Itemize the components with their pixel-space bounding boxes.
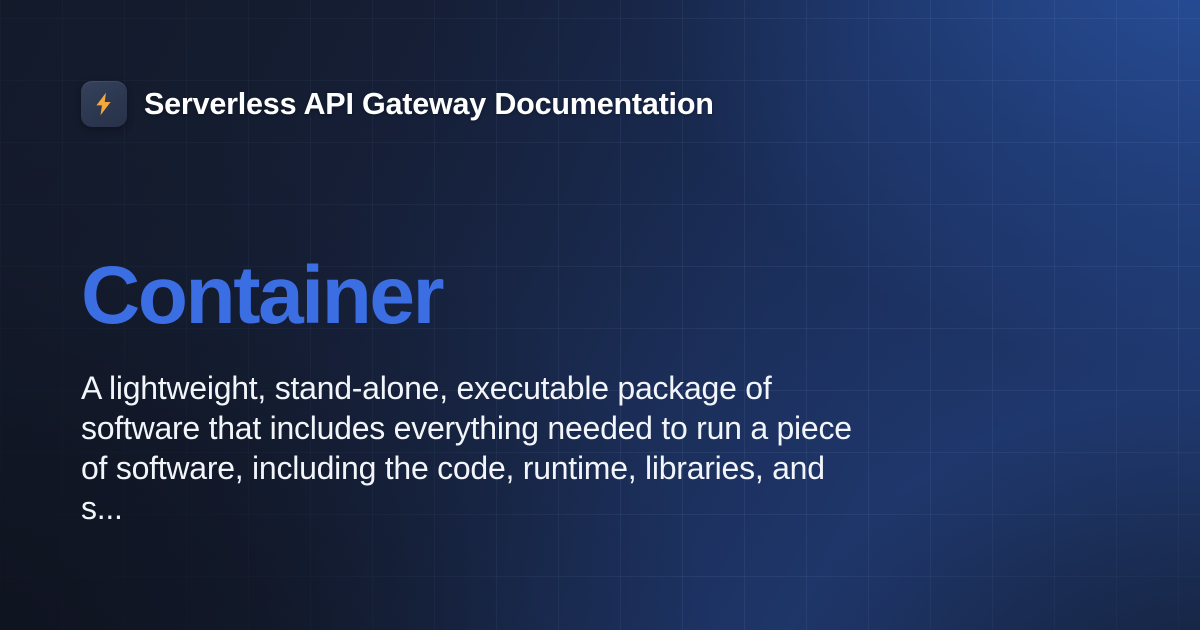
og-card: Serverless API Gateway Documentation Con… [0,0,1200,630]
page-title: Serverless API Gateway Documentation [144,87,714,122]
brand-header: Serverless API Gateway Documentation [81,81,714,127]
hero-heading: Container [81,255,901,337]
hero-description: A lightweight, stand-alone, executable p… [81,368,871,528]
lightning-bolt-icon [81,81,127,127]
hero-section: Container A lightweight, stand-alone, ex… [81,255,901,528]
